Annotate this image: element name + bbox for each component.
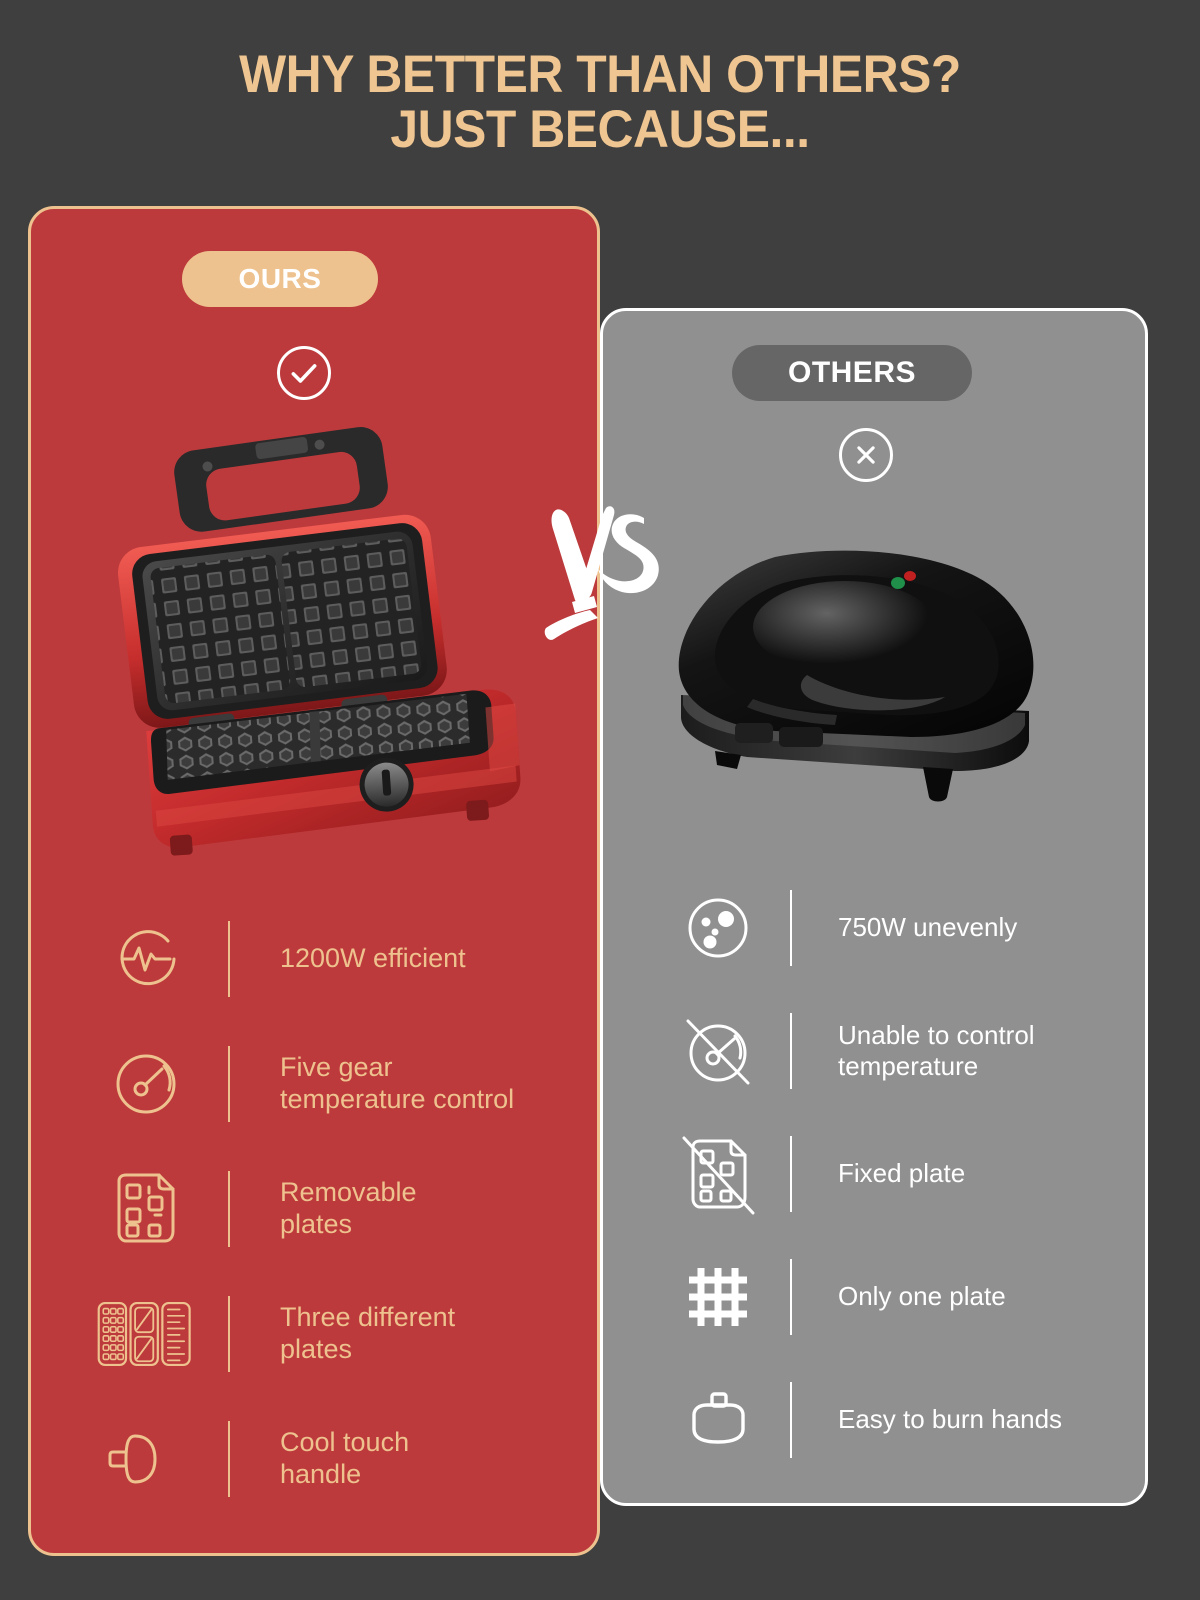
- feature-label: Only one plate: [792, 1281, 1122, 1312]
- feature-label: Three different plates: [230, 1302, 586, 1366]
- ours-product-image: [118, 418, 548, 858]
- others-product-image: [655, 535, 1065, 825]
- others-feature-list: 750W unevenly Unable to control temperat…: [672, 866, 1122, 1481]
- ours-feature-list: 1200W efficient Five gear temperature co…: [96, 896, 586, 1521]
- cool-touch-handle-icon: [96, 1419, 196, 1499]
- feature-row: Removable plates: [96, 1146, 586, 1271]
- title-line-2: JUST BECAUSE...: [36, 103, 1164, 158]
- fixed-plate-crossed-icon: [672, 1136, 764, 1212]
- power-pulse-icon: [96, 919, 196, 999]
- temperature-gauge-icon: [96, 1044, 196, 1124]
- cross-circle-icon: [839, 428, 893, 482]
- check-circle-icon: [277, 346, 331, 400]
- feature-row: 750W unevenly: [672, 866, 1122, 989]
- feature-row: 1200W efficient: [96, 896, 586, 1021]
- feature-row: Unable to control temperature: [672, 989, 1122, 1112]
- feature-row: Three different plates: [96, 1271, 586, 1396]
- title-line-1: WHY BETTER THAN OTHERS?: [36, 48, 1164, 103]
- feature-label: Easy to burn hands: [792, 1404, 1122, 1435]
- hot-handle-icon: [672, 1382, 764, 1458]
- ours-badge: OURS: [182, 251, 378, 307]
- page-title: WHY BETTER THAN OTHERS? JUST BECAUSE...: [0, 48, 1200, 157]
- single-grid-plate-icon: [672, 1259, 764, 1335]
- feature-row: Easy to burn hands: [672, 1358, 1122, 1481]
- uneven-heat-dots-icon: [672, 890, 764, 966]
- gauge-crossed-out-icon: [672, 1013, 764, 1089]
- feature-label: Removable plates: [230, 1177, 586, 1241]
- feature-label: Unable to control temperature: [792, 1020, 1122, 1081]
- feature-label: Cool touch handle: [230, 1427, 586, 1491]
- feature-row: Fixed plate: [672, 1112, 1122, 1235]
- feature-row: Cool touch handle: [96, 1396, 586, 1521]
- feature-row: Five gear temperature control: [96, 1021, 586, 1146]
- feature-label: Fixed plate: [792, 1158, 1122, 1189]
- others-badge: OTHERS: [732, 345, 972, 401]
- removable-plate-icon: [96, 1169, 196, 1249]
- feature-label: 1200W efficient: [230, 943, 586, 975]
- feature-row: Only one plate: [672, 1235, 1122, 1358]
- versus-icon: [528, 480, 678, 660]
- three-plates-icon: [96, 1294, 196, 1374]
- feature-label: Five gear temperature control: [230, 1052, 586, 1116]
- feature-label: 750W unevenly: [792, 912, 1122, 943]
